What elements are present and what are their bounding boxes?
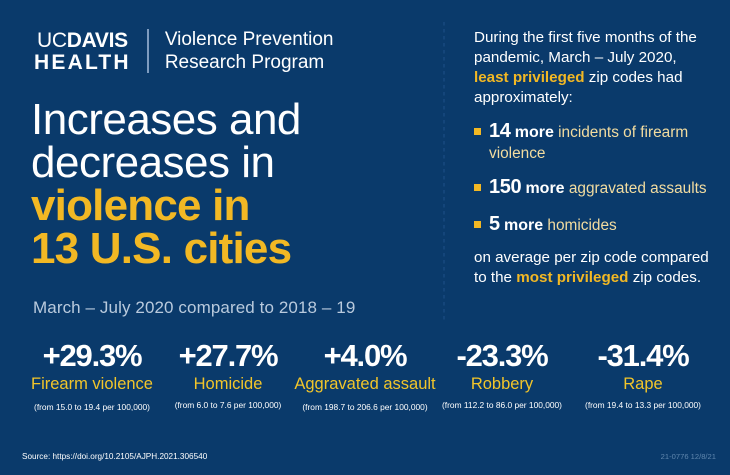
bullet-text: 14 more incidents of firearm violence: [489, 119, 712, 164]
bullet-number: 5: [489, 213, 500, 235]
page-title: Increases and decreases in violence in 1…: [31, 98, 301, 270]
program-line-1: Violence Prevention: [165, 29, 334, 50]
stat-percent: -31.4%: [568, 340, 718, 373]
intro-highlight: least privileged: [474, 69, 585, 86]
intro-paragraph: During the first five months of the pand…: [474, 28, 712, 108]
stat-range: (from 112.2 to 86.0 per 100,000): [433, 400, 571, 410]
bullet-description: homicides: [547, 217, 616, 234]
stat-robbery: -23.3% Robbery (from 112.2 to 86.0 per 1…: [433, 340, 571, 410]
stat-label: Robbery: [433, 375, 571, 393]
bullet-number: 14: [489, 120, 510, 142]
publication-code: 21-0776 12/8/21: [661, 452, 716, 461]
headline-line-4: 13 U.S. cities: [31, 227, 301, 270]
stat-percent: -23.3%: [433, 340, 571, 373]
headline-line-3: violence in: [31, 184, 301, 227]
program-line-2: Research Program: [165, 52, 324, 73]
stat-label: Homicide: [163, 375, 293, 393]
stat-range: (from 6.0 to 7.6 per 100,000): [163, 400, 293, 410]
brand-header: UCDAVIS HEALTH Violence Prevention Resea…: [34, 28, 333, 74]
logo-davis-text: DAVIS: [67, 29, 128, 52]
stat-percent: +4.0%: [292, 340, 438, 373]
outro-highlight: most privileged: [516, 269, 628, 286]
stat-percent: +27.7%: [163, 340, 293, 373]
list-item: 14 more incidents of firearm violence: [474, 119, 712, 164]
intro-text-before: During the first five months of the pand…: [474, 29, 697, 66]
bullet-list: 14 more incidents of firearm violence 15…: [474, 119, 712, 238]
square-bullet-icon: [474, 221, 481, 228]
bullet-text: 5 more homicides: [489, 212, 617, 238]
stat-firearm-violence: +29.3% Firearm violence (from 15.0 to 19…: [18, 340, 166, 412]
bullet-number: 150: [489, 176, 521, 198]
source-citation: Source: https://doi.org/10.2105/AJPH.202…: [22, 452, 207, 461]
outro-paragraph: on average per zip code compared to the …: [474, 248, 712, 288]
bullet-more-label: more: [525, 180, 564, 197]
stat-label: Rape: [568, 375, 718, 393]
bullet-more-label: more: [515, 124, 554, 141]
stat-range: (from 198.7 to 206.6 per 100,000): [292, 402, 438, 412]
infographic-poster: UCDAVIS HEALTH Violence Prevention Resea…: [0, 0, 730, 475]
stat-range: (from 15.0 to 19.4 per 100,000): [18, 402, 166, 412]
stat-aggravated-assault: +4.0% Aggravated assault (from 198.7 to …: [292, 340, 438, 412]
logo-health-text: HEALTH: [34, 52, 131, 73]
stat-label: Aggravated assault: [292, 375, 438, 393]
headline-line-1: Increases and: [31, 98, 301, 141]
header-divider-rule: [147, 29, 149, 73]
list-item: 150 more aggravated assaults: [474, 175, 712, 201]
stat-rape: -31.4% Rape (from 19.4 to 13.3 per 100,0…: [568, 340, 718, 410]
stat-percent: +29.3%: [18, 340, 166, 373]
program-name: Violence Prevention Research Program: [165, 28, 334, 74]
stat-range: (from 19.4 to 13.3 per 100,000): [568, 400, 718, 410]
uc-davis-health-logo: UCDAVIS HEALTH: [34, 30, 133, 73]
bullet-more-label: more: [504, 217, 543, 234]
logo-uc-text: UC: [37, 29, 67, 52]
bullet-description: aggravated assaults: [569, 180, 707, 197]
stat-homicide: +27.7% Homicide (from 6.0 to 7.6 per 100…: [163, 340, 293, 410]
statistics-row: +29.3% Firearm violence (from 15.0 to 19…: [0, 340, 730, 435]
vertical-dotted-divider: [443, 22, 445, 322]
outro-text-after: zip codes.: [628, 269, 701, 286]
stat-label: Firearm violence: [18, 375, 166, 393]
right-panel: During the first five months of the pand…: [474, 28, 712, 288]
headline-subtitle: March – July 2020 compared to 2018 – 19: [33, 298, 355, 318]
bullet-text: 150 more aggravated assaults: [489, 175, 707, 201]
headline-line-2: decreases in: [31, 141, 301, 184]
list-item: 5 more homicides: [474, 212, 712, 238]
logo-top-row: UCDAVIS: [34, 30, 131, 51]
square-bullet-icon: [474, 128, 481, 135]
square-bullet-icon: [474, 184, 481, 191]
